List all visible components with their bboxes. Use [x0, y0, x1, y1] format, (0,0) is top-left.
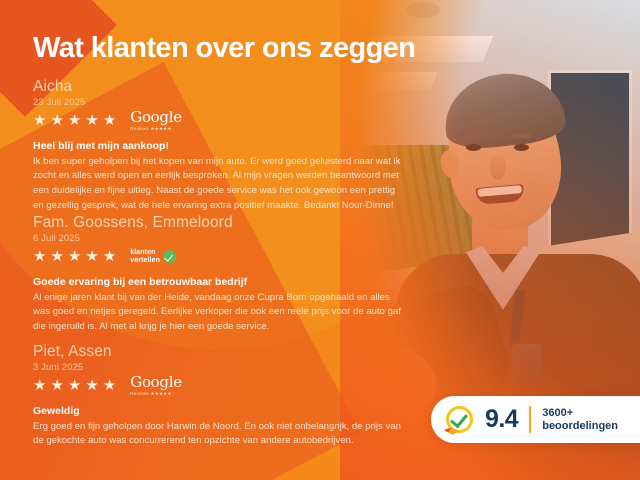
star-icon: ★ — [85, 249, 98, 264]
content-column: Wat klanten over ons zeggen Aicha 23 Jul… — [33, 0, 433, 480]
rating-score: 9.4 — [485, 407, 518, 432]
star-icon: ★ — [85, 113, 98, 128]
review-date: 23 Juli 2025 — [33, 97, 401, 108]
review-title: Goede ervaring bij een betrouwbaar bedri… — [33, 276, 401, 288]
star-icon: ★ — [68, 378, 81, 393]
reviewer-name: Fam. Goossens, Emmeloord — [33, 214, 401, 232]
google-reviews-logo: Google Reviews ★★★★★ — [130, 375, 182, 397]
star-icon: ★ — [50, 249, 63, 264]
testimonial-banner: VDH — [0, 0, 640, 480]
reviewer-name: Aicha — [33, 78, 401, 96]
google-reviews-sublabel: Reviews ★★★★★ — [130, 126, 182, 132]
review-date: 6 Juli 2025 — [33, 233, 401, 244]
review-card: Aicha 23 Juli 2025 ★ ★ ★ ★ ★ Google Revi… — [33, 78, 401, 213]
klantenvertellen-line1: klanten — [130, 249, 160, 257]
klantenvertellen-line2: vertellen — [130, 257, 160, 265]
rating-badge[interactable]: 9.4 3600+ beoordelingen — [431, 396, 640, 443]
klantenvertellen-wordmark: klanten vertellen — [130, 249, 160, 265]
google-reviews-sublabel: Reviews ★★★★★ — [130, 391, 182, 397]
star-icon: ★ — [33, 249, 46, 264]
google-wordmark: Google — [130, 110, 182, 125]
star-icon: ★ — [33, 378, 46, 393]
checkmark-circle-icon — [163, 250, 176, 263]
review-meta: ★ ★ ★ ★ ★ Google Reviews ★★★★★ — [33, 376, 401, 396]
review-card: Fam. Goossens, Emmeloord 6 Juli 2025 ★ ★… — [33, 214, 401, 335]
star-icon: ★ — [103, 113, 116, 128]
star-icon: ★ — [68, 113, 81, 128]
review-body: Erg goed en fijn geholpen door Harwin de… — [33, 420, 401, 449]
star-icon: ★ — [85, 378, 98, 393]
star-icon: ★ — [68, 249, 81, 264]
rating-count: 3600+ — [542, 407, 618, 420]
star-icon: ★ — [50, 113, 63, 128]
star-icon: ★ — [50, 378, 63, 393]
review-title: Heel blij met mijn aankoop! — [33, 140, 401, 152]
review-title: Geweldig — [33, 405, 401, 417]
review-meta: ★ ★ ★ ★ ★ klanten vertellen — [33, 247, 401, 267]
review-meta: ★ ★ ★ ★ ★ Google Reviews ★★★★★ — [33, 111, 401, 131]
rating-count-block: 3600+ beoordelingen — [542, 407, 618, 433]
review-card: Piet, Assen 3 Juni 2025 ★ ★ ★ ★ ★ Google… — [33, 343, 401, 449]
star-rating: ★ ★ ★ ★ ★ — [33, 113, 116, 128]
google-wordmark: Google — [130, 375, 182, 390]
review-date: 3 Juni 2025 — [33, 362, 401, 373]
verified-seal-icon — [445, 405, 474, 434]
klantenvertellen-logo: klanten vertellen — [130, 249, 176, 265]
review-body: Al enige jaren klant bij van der Heide, … — [33, 291, 401, 335]
google-reviews-logo: Google Reviews ★★★★★ — [130, 110, 182, 132]
reviewer-name: Piet, Assen — [33, 343, 401, 361]
star-rating: ★ ★ ★ ★ ★ — [33, 249, 116, 264]
star-icon: ★ — [103, 378, 116, 393]
review-body: Ik ben super geholpen bij het kopen van … — [33, 155, 401, 213]
rating-count-label: beoordelingen — [542, 420, 618, 433]
star-icon: ★ — [33, 113, 46, 128]
page-title: Wat klanten over ons zeggen — [33, 32, 415, 65]
badge-divider — [529, 406, 531, 433]
star-icon: ★ — [103, 249, 116, 264]
star-rating: ★ ★ ★ ★ ★ — [33, 378, 116, 393]
